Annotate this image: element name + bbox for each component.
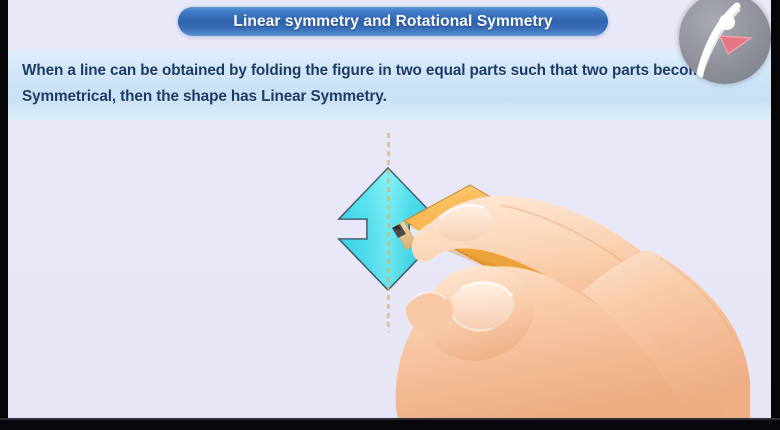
slide-stage: Linear symmetry and Rotational Symmetry … xyxy=(0,0,780,430)
letterbox-bottom xyxy=(0,418,780,430)
letterbox-left xyxy=(0,0,8,430)
hand-with-pencil xyxy=(0,0,780,430)
letterbox-right xyxy=(771,0,780,430)
